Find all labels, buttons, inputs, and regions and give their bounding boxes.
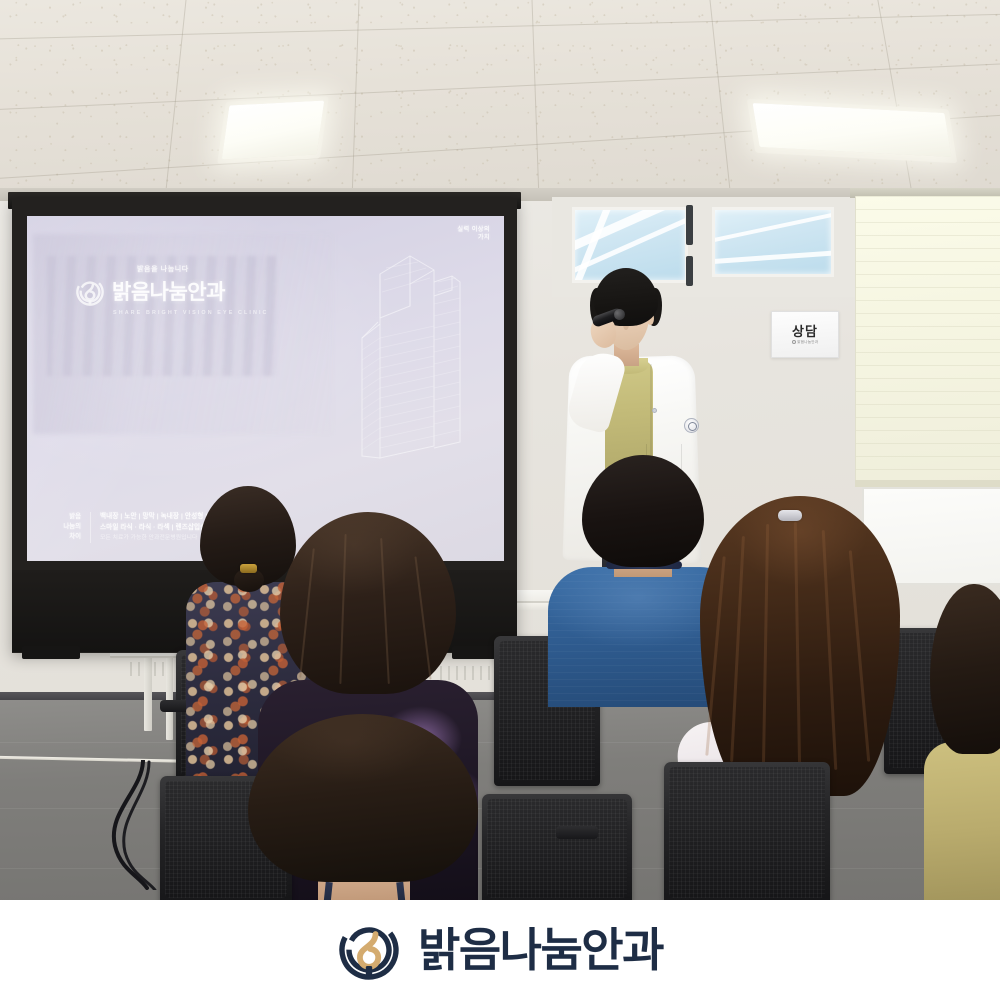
foreground-chair[interactable] — [664, 762, 830, 900]
ceiling — [0, 0, 1000, 195]
slide-clinic-name: 밝음나눔안과 — [112, 282, 225, 303]
high-window-right — [712, 207, 834, 277]
wall-sign-consultation: 상담 밝음나눔안과 — [771, 311, 839, 358]
slide-services-label: 밝음 나눔의 차이 — [47, 512, 81, 542]
bright-sharing-eye-mark-icon — [75, 277, 105, 307]
brand-name: 밝음나눔안과 — [418, 927, 663, 973]
list-item — [248, 714, 478, 900]
slide-services-label-line3: 차이 — [47, 532, 81, 542]
chair-armrest — [556, 826, 598, 839]
far-right-attendee-body — [924, 742, 1000, 900]
bright-sharing-eye-mark-icon — [337, 918, 401, 982]
clinic-sleeve-emblem-icon — [684, 418, 699, 433]
slide-logo-row: 밝음나눔안과 — [75, 277, 305, 307]
slide-services-label-line1: 밝음 — [47, 512, 81, 522]
wall-sign-subtitle-row: 밝음나눔안과 — [792, 340, 819, 345]
hospital-tower-illustration — [348, 246, 470, 464]
blind-bottom-bar — [855, 480, 1000, 487]
lanyard-attendee-head — [248, 714, 478, 882]
slide-clinic-name-en: SHARE BRIGHT VISION EYE CLINIC — [113, 310, 305, 316]
slide-divider — [90, 512, 91, 543]
coat-button — [652, 408, 657, 413]
wall-sign-subtitle: 밝음나눔안과 — [797, 340, 818, 345]
brand-footer: 밝음나눔안과 — [0, 900, 1000, 1000]
ceiling-tile-texture — [0, 0, 1000, 195]
slide-eyebrow: 밝음을 나눕니다 — [137, 264, 305, 274]
blind-slat-texture — [856, 196, 1000, 486]
photo-page: 상담 밝음나눔안과 — [0, 0, 1000, 1000]
list-item — [930, 584, 1000, 900]
blue-sweater-attendee-head — [582, 455, 704, 567]
chair-mesh — [487, 799, 627, 898]
gold-hair-clip — [240, 564, 257, 573]
screen-foot-left — [22, 646, 80, 659]
chair-mesh — [669, 767, 825, 898]
ceiling-light-left — [222, 101, 324, 160]
foreground-chair[interactable] — [482, 794, 632, 900]
lecture-photo: 상담 밝음나눔안과 — [0, 0, 1000, 900]
slide-tagline-line1: 실력 이상의 — [457, 226, 490, 234]
window-glare — [712, 207, 834, 246]
clinic-mark-icon — [792, 340, 796, 344]
slide-tagline: 실력 이상의 가치 — [457, 226, 490, 242]
window-glare — [712, 248, 834, 265]
window-mullion — [686, 205, 693, 245]
roller-blind[interactable] — [855, 196, 1000, 486]
slide-services-label-line2: 나눔의 — [47, 522, 81, 532]
far-right-attendee-head — [930, 584, 1000, 754]
hair-tie — [778, 510, 802, 521]
wall-sign-title: 상담 — [792, 325, 818, 338]
slide-tagline-line2: 가치 — [457, 234, 490, 242]
slide-logo-block: 밝음을 나눕니다 밝음나눔안과 SHARE BRIGHT VISION EYE … — [75, 264, 305, 316]
